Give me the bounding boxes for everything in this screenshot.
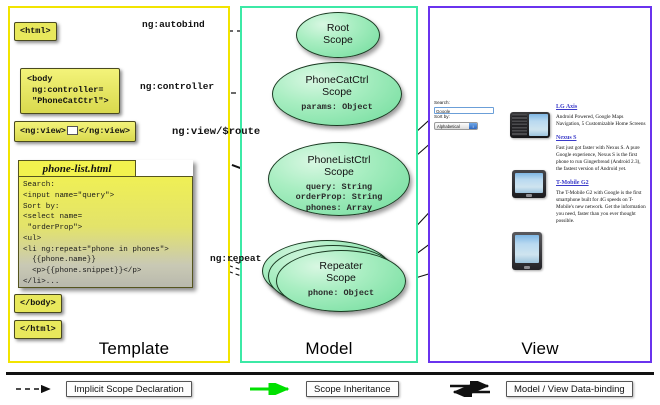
callout-title: phone-list.html <box>18 160 136 177</box>
legend-label: Implicit Scope Declaration <box>66 381 192 397</box>
legend-item-implicit-scope-declaration: Implicit Scope Declaration <box>14 381 192 397</box>
phone-screen <box>529 114 548 136</box>
sort-by-value: Alphabetical <box>437 124 460 129</box>
wire-label-ng-autobind: ng:autobind <box>142 19 205 30</box>
tag-html-close: </html> <box>14 320 62 339</box>
template-callout-phone-list: phone-list.html Search: <input name="que… <box>18 160 193 288</box>
scope-phonelistctrl-name: PhoneListCtrlScope <box>269 155 409 179</box>
scope-repeater: RepeaterScope phone: Object <box>276 250 406 312</box>
scope-phonecatctrl: PhoneCatCtrlScope params: Object <box>272 62 402 126</box>
sort-by-select[interactable]: Alphabetical↕ <box>434 122 478 130</box>
list-item[interactable]: T-Mobile G2 The T-Mobile G2 with Google … <box>556 180 648 225</box>
scope-phonelistctrl-props: query: StringorderProp: Stringphones: Ar… <box>269 182 409 214</box>
dashed-arrow-icon <box>14 383 60 395</box>
legend-item-scope-inheritance: Scope Inheritance <box>248 381 399 397</box>
tag-body-close: </body> <box>14 294 62 313</box>
phone-thumbnail-t-mobile-g2 <box>512 232 542 270</box>
sort-by-label: Sort by: <box>434 114 496 121</box>
legend-divider <box>6 372 654 375</box>
phone-thumbnail-nexus-s <box>512 170 546 198</box>
phone-home-button-icon <box>526 194 532 197</box>
scope-repeater-props: phone: Object <box>277 288 405 299</box>
callout-code: Search: <input name="query"> Sort by: <s… <box>18 176 193 288</box>
scope-phonelistctrl: PhoneListCtrlScope query: StringorderPro… <box>268 142 410 216</box>
view-phone-list: LG Axis Android Powered, Google Maps Nav… <box>556 104 648 232</box>
tag-ng-view-close: </ng:view> <box>79 126 130 136</box>
chevron-updown-icon: ↕ <box>469 123 477 129</box>
view-search-widget: Search: Google Sort by: Alphabetical↕ <box>434 100 496 130</box>
legend-label: Model / View Data-binding <box>506 381 633 397</box>
phone-screen <box>515 235 539 263</box>
search-label: Search: <box>434 100 496 107</box>
ng-view-slot-icon <box>67 126 78 135</box>
solid-arrow-icon <box>248 383 300 395</box>
list-item[interactable]: LG Axis Android Powered, Google Maps Nav… <box>556 104 648 128</box>
phone-thumbnail-lg-axis <box>510 112 550 138</box>
tag-ng-view-open: <ng:view> <box>20 126 66 136</box>
legend-label: Scope Inheritance <box>306 381 399 397</box>
tag-ng-view: <ng:view></ng:view> <box>14 121 136 142</box>
wire-label-ng-controller: ng:controller <box>140 81 214 92</box>
phone-keyboard-icon <box>512 114 527 136</box>
phone-snippet: Fast just got faster with Nexus S. A pur… <box>556 145 648 173</box>
wire-label-ng-repeat: ng:repeat <box>210 253 261 264</box>
scope-root: RootScope <box>296 12 380 58</box>
tag-html-open: <html> <box>14 22 57 41</box>
legend-item-model-view-data-binding: Model / View Data-binding <box>448 381 633 397</box>
scope-repeater-name: RepeaterScope <box>277 261 405 285</box>
diagram-canvas: Template <html> <body ng:controller= "Ph… <box>0 0 660 405</box>
phone-screen <box>515 173 543 193</box>
tag-body-open: <body ng:controller= "PhoneCatCtrl"> <box>20 68 120 114</box>
wire-label-ng-view-route: ng:view/$route <box>172 126 260 138</box>
panel-model-label: Model <box>242 339 416 359</box>
double-arrow-icon <box>448 381 500 397</box>
list-item[interactable]: Nexus S Fast just got faster with Nexus … <box>556 135 648 173</box>
phone-name-link[interactable]: T-Mobile G2 <box>556 180 648 188</box>
phone-snippet: The T-Mobile G2 with Google is the first… <box>556 190 648 225</box>
scope-phonecatctrl-name: PhoneCatCtrlScope <box>273 75 401 99</box>
phone-name-link[interactable]: LG Axis <box>556 104 648 112</box>
panel-view-label: View <box>430 339 650 359</box>
panel-template-label: Template <box>10 339 228 359</box>
scope-phonecatctrl-props: params: Object <box>273 102 401 113</box>
phone-name-link[interactable]: Nexus S <box>556 135 648 143</box>
search-input[interactable]: Google <box>434 107 494 114</box>
phone-snippet: Android Powered, Google Maps Navigation,… <box>556 114 648 128</box>
phone-home-button-icon <box>524 266 530 269</box>
scope-root-name: RootScope <box>297 23 379 47</box>
